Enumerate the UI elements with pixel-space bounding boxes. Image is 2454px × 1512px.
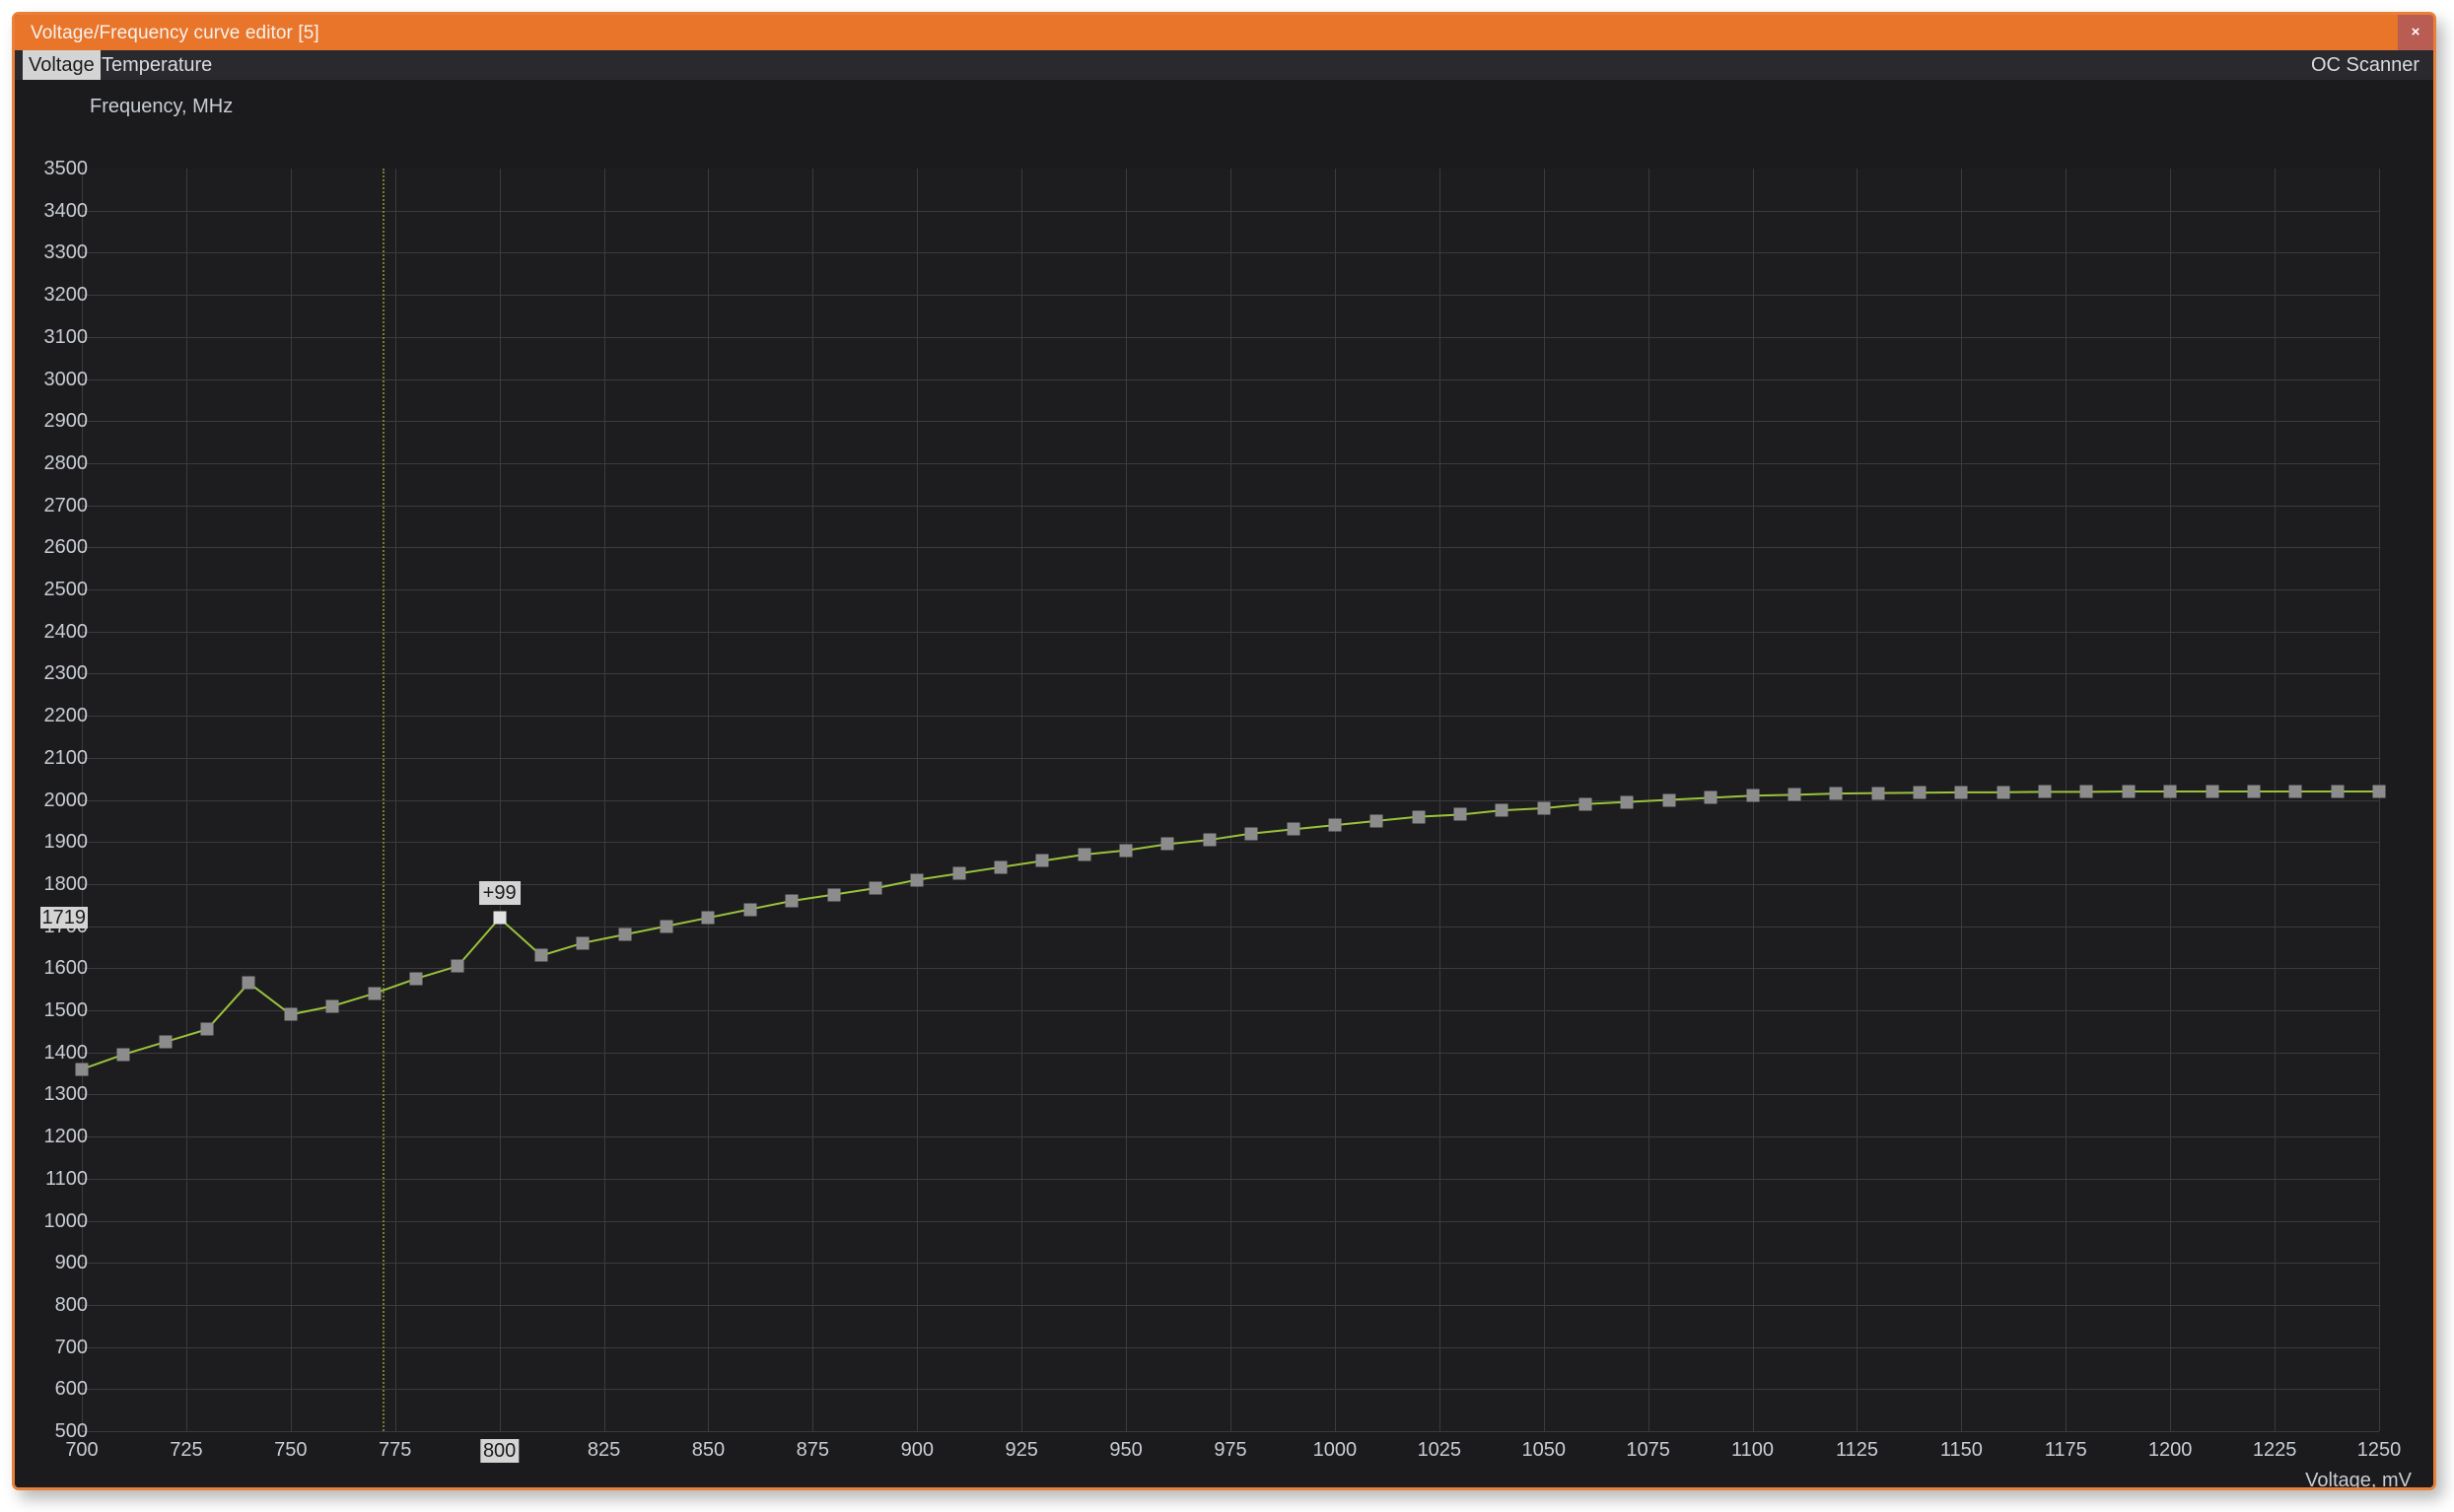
curve-point-marker[interactable] (1496, 804, 1508, 817)
gridline-vertical (604, 169, 605, 1431)
curve-point-marker[interactable] (661, 920, 673, 932)
curve-point-marker[interactable] (1914, 787, 1927, 799)
window-titlebar: Voltage/Frequency curve editor [5] × (15, 15, 2433, 50)
curve-point-marker[interactable] (76, 1063, 89, 1075)
curve-point-marker[interactable] (2039, 786, 2052, 798)
gridline-vertical (186, 169, 187, 1431)
gridline-vertical (2275, 169, 2276, 1431)
y-axis-tick-label: 1100 (45, 1169, 88, 1189)
curve-point-marker[interactable] (869, 882, 881, 895)
y-axis-tick-label: 1600 (44, 958, 89, 978)
curve-point-marker[interactable] (1871, 787, 1884, 799)
gridline-vertical (708, 169, 709, 1431)
plot-area[interactable] (82, 169, 2379, 1431)
y-axis-tick-label: 600 (55, 1379, 88, 1399)
x-axis-tick-label: 1100 (1731, 1439, 1774, 1461)
gridline-vertical (1544, 169, 1545, 1431)
y-axis-title: Frequency, MHz (90, 96, 233, 118)
x-axis-tick-label: 825 (588, 1439, 620, 1461)
gridline-vertical (1021, 169, 1022, 1431)
curve-point-marker[interactable] (1662, 793, 1675, 806)
x-axis-tick-label: 1175 (2045, 1439, 2087, 1461)
curve-point-marker[interactable] (702, 912, 715, 925)
gridline-vertical (291, 169, 292, 1431)
oc-scanner-button[interactable]: OC Scanner (2311, 50, 2419, 80)
y-axis-tick-label: 1200 (44, 1127, 89, 1146)
gridline-vertical (1857, 169, 1858, 1431)
y-axis-tick-label: 700 (55, 1338, 88, 1357)
curve-point-marker[interactable] (2206, 785, 2218, 797)
curve-point-marker[interactable] (535, 949, 548, 962)
y-axis-tick-label: 2000 (44, 790, 89, 810)
y-axis-tick-label: 3000 (44, 370, 89, 389)
curve-point-marker[interactable] (1120, 844, 1133, 857)
curve-point-marker[interactable] (1161, 838, 1174, 851)
y-axis-tick-label: 2800 (44, 453, 89, 473)
x-axis-tick-label: 1250 (2357, 1439, 2402, 1461)
curve-point-marker[interactable] (995, 860, 1008, 873)
x-axis-tick-label: 800 (480, 1439, 519, 1463)
curve-point-marker[interactable] (1997, 786, 2009, 798)
curve-point-marker[interactable] (1537, 802, 1550, 815)
y-axis-tick-label: 3300 (44, 242, 89, 262)
x-axis-tick-label: 900 (901, 1439, 934, 1461)
curve-point-marker[interactable] (1454, 808, 1467, 821)
y-axis-tick-label: 3500 (44, 159, 89, 178)
curve-point-marker[interactable] (1788, 789, 1800, 801)
frequency-offset-tooltip: +99 (479, 881, 521, 905)
curve-point-marker[interactable] (911, 873, 924, 886)
x-axis-tick-label: 1200 (2148, 1439, 2193, 1461)
curve-point-marker[interactable] (1746, 790, 1759, 802)
gridline-vertical (1961, 169, 1962, 1431)
curve-point-marker[interactable] (1579, 797, 1592, 810)
y-axis-tick-label: 800 (55, 1295, 88, 1315)
curve-point-marker[interactable] (2289, 785, 2302, 797)
x-axis-tick-label: 1050 (1521, 1439, 1566, 1461)
y-axis-tick-label: 2600 (44, 537, 89, 557)
curve-point-marker[interactable] (493, 912, 506, 925)
x-axis-tick-label: 1025 (1418, 1439, 1462, 1461)
y-axis-tick-label: 3200 (44, 285, 89, 305)
y-axis-tick-label: 500 (55, 1421, 88, 1441)
gridline-vertical (917, 169, 918, 1431)
gridline-vertical (2170, 169, 2171, 1431)
cursor-line[interactable] (383, 169, 385, 1431)
curve-point-marker[interactable] (284, 1008, 297, 1021)
screen: Voltage/Frequency curve editor [5] × Vol… (0, 0, 2454, 1512)
x-axis-tick-label: 975 (1214, 1439, 1246, 1461)
curve-point-marker[interactable] (2122, 785, 2135, 797)
y-axis-tick-label: 3100 (44, 327, 89, 347)
curve-point-marker[interactable] (577, 936, 590, 949)
curve-point-marker[interactable] (786, 894, 799, 907)
gridline-vertical (1126, 169, 1127, 1431)
curve-point-marker[interactable] (952, 867, 965, 880)
y-axis-tick-label: 1800 (44, 874, 89, 894)
close-icon[interactable]: × (2398, 15, 2433, 50)
y-axis-tick-label: 1000 (44, 1211, 89, 1231)
y-axis-tick-label: 2500 (44, 580, 89, 599)
curve-point-marker[interactable] (243, 977, 255, 990)
curve-point-marker[interactable] (1036, 855, 1049, 867)
x-axis-tick-label: 750 (274, 1439, 307, 1461)
voltage-frequency-curve-editor-window: Voltage/Frequency curve editor [5] × Vol… (12, 12, 2436, 1490)
curve-point-marker[interactable] (2373, 785, 2386, 797)
x-axis-tick-label: 950 (1109, 1439, 1142, 1461)
curve-point-marker[interactable] (368, 987, 381, 999)
y-axis-tick-label: 1900 (44, 832, 89, 852)
y-axis-tick-label: 2400 (44, 622, 89, 642)
x-axis-tick-label: 850 (692, 1439, 725, 1461)
curve-point-marker[interactable] (2164, 785, 2177, 797)
tab-voltage[interactable]: Voltage (23, 50, 101, 80)
curve-point-marker[interactable] (201, 1023, 214, 1036)
tab-temperature[interactable]: Temperature (96, 50, 218, 80)
x-axis-tick-label: 1000 (1313, 1439, 1358, 1461)
gridline-vertical (1648, 169, 1649, 1431)
curve-point-marker[interactable] (618, 928, 631, 941)
gridline-vertical (812, 169, 813, 1431)
curve-point-marker[interactable] (1412, 810, 1425, 823)
x-axis-tick-label: 775 (379, 1439, 411, 1461)
gridline-vertical (1335, 169, 1336, 1431)
curve-point-marker[interactable] (1370, 814, 1383, 827)
gridline-vertical (2379, 169, 2380, 1431)
y-axis-tick-label: 2100 (44, 748, 89, 768)
y-axis-tick-label: 1500 (44, 1000, 89, 1020)
gridline-vertical (1230, 169, 1231, 1431)
x-axis-tick-label: 1150 (1940, 1439, 1983, 1461)
curve-point-marker[interactable] (1621, 795, 1634, 808)
curve-point-marker[interactable] (326, 999, 339, 1012)
gridline-horizontal (82, 1431, 2379, 1432)
gridline-vertical (500, 169, 501, 1431)
curve-point-marker[interactable] (743, 903, 756, 916)
y-axis-tick-label: 1400 (44, 1043, 89, 1063)
selected-frequency-label: 1719 (40, 907, 89, 928)
curve-point-marker[interactable] (1287, 823, 1299, 836)
curve-point-marker[interactable] (1955, 786, 1968, 798)
x-axis-tick-label: 875 (797, 1439, 829, 1461)
x-axis-tick-label: 925 (1005, 1439, 1037, 1461)
x-axis-tick-label: 1075 (1626, 1439, 1670, 1461)
curve-point-marker[interactable] (2247, 785, 2260, 797)
curve-point-marker[interactable] (1245, 827, 1258, 840)
curve-point-marker[interactable] (827, 888, 840, 901)
y-axis-tick-label: 2900 (44, 411, 89, 431)
tab-bar: Voltage Temperature OC Scanner (15, 50, 2433, 80)
curve-point-marker[interactable] (409, 972, 422, 985)
curve-point-marker[interactable] (1328, 819, 1341, 832)
curve-point-marker[interactable] (1078, 849, 1090, 861)
y-axis-tick-label: 2200 (44, 706, 89, 725)
curve-point-marker[interactable] (2080, 786, 2093, 798)
x-axis-tick-label: 700 (65, 1439, 98, 1461)
curve-point-marker[interactable] (1203, 834, 1216, 847)
curve-point-marker[interactable] (1830, 788, 1843, 800)
y-axis-tick-label: 900 (55, 1253, 88, 1272)
x-axis-title: Voltage, mV (2305, 1470, 2412, 1487)
y-axis-tick-label: 3400 (44, 201, 89, 221)
y-axis-tick-label: 1300 (44, 1084, 89, 1104)
chart-canvas[interactable]: Frequency, MHz Voltage, mV 3500340033003… (15, 80, 2433, 1487)
curve-point-marker[interactable] (159, 1036, 172, 1049)
curve-point-marker[interactable] (1705, 791, 1718, 804)
curve-point-marker[interactable] (452, 960, 464, 973)
gridline-vertical (395, 169, 396, 1431)
curve-point-marker[interactable] (117, 1048, 130, 1061)
x-axis-tick-label: 1225 (2253, 1439, 2297, 1461)
curve-point-marker[interactable] (2331, 785, 2344, 797)
gridline-vertical (1439, 169, 1440, 1431)
gridline-vertical (2066, 169, 2067, 1431)
y-axis-tick-label: 2300 (44, 663, 89, 683)
window-title: Voltage/Frequency curve editor [5] (31, 23, 319, 44)
x-axis-tick-label: 725 (170, 1439, 202, 1461)
y-axis-tick-label: 2700 (44, 496, 89, 515)
x-axis-tick-label: 1125 (1836, 1439, 1878, 1461)
